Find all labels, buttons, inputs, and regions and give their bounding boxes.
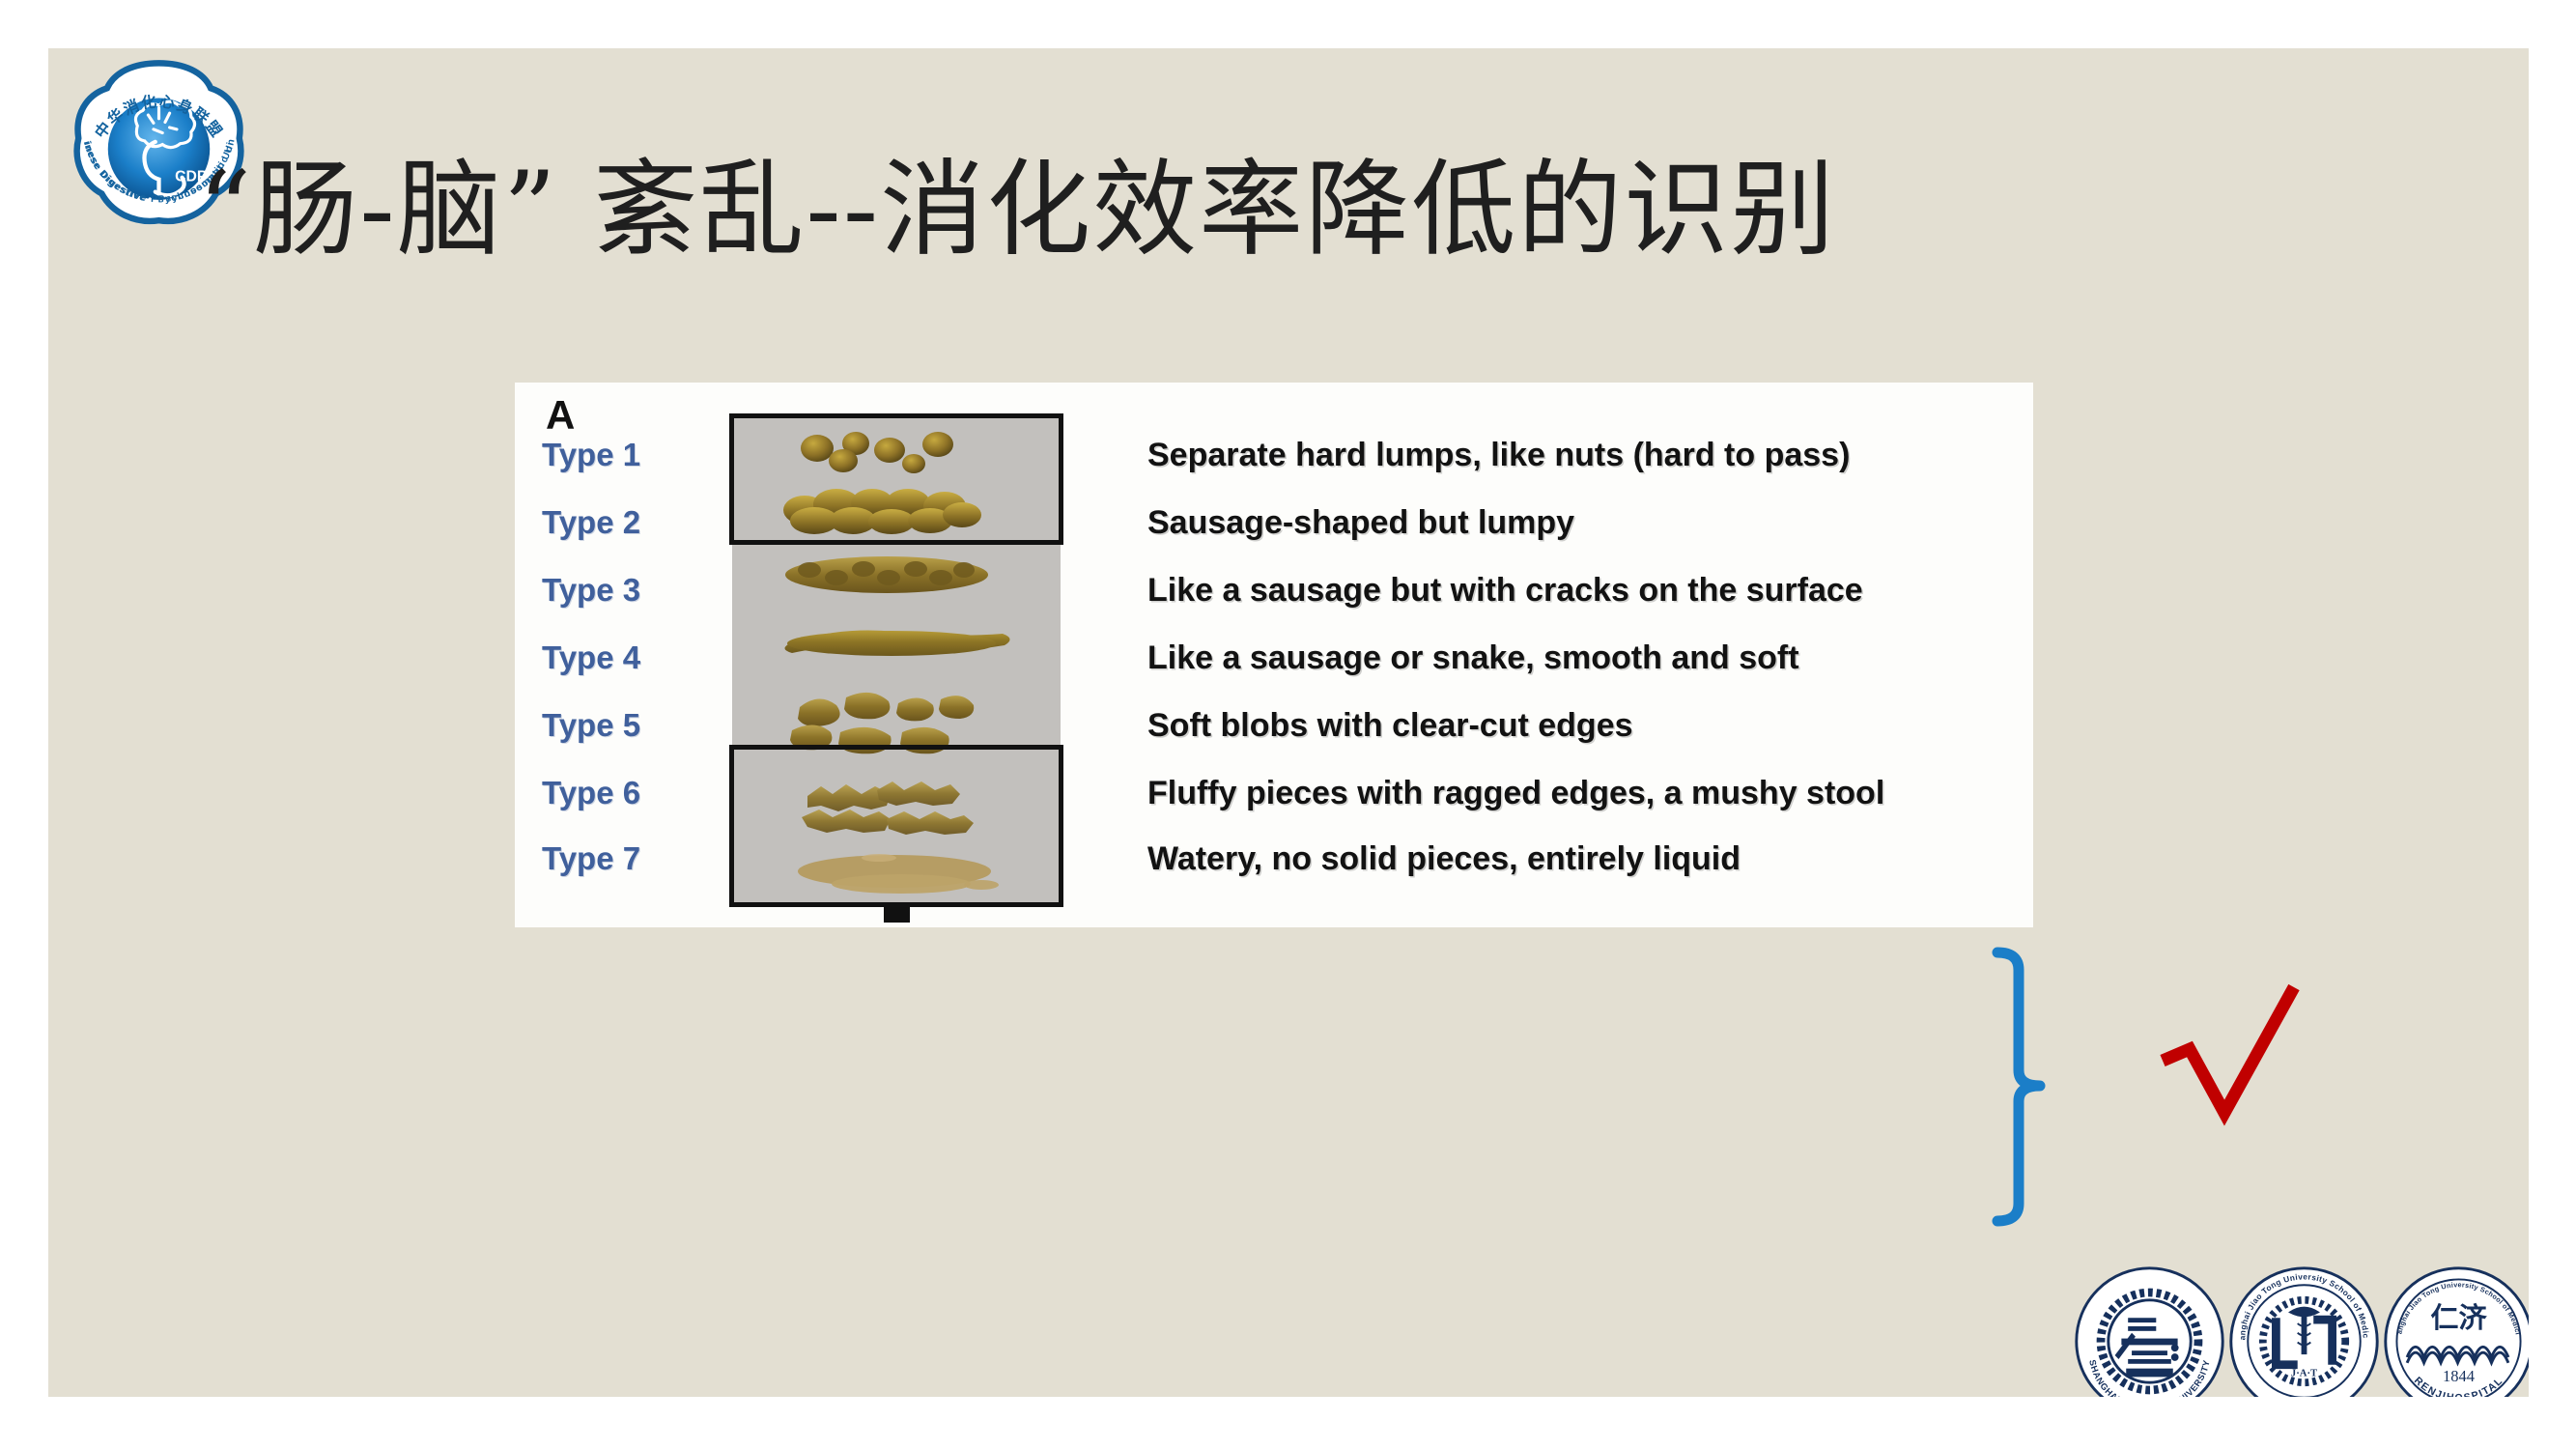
- type-label-1: Type 1: [542, 437, 725, 473]
- type-label-5: Type 5: [542, 707, 725, 744]
- type-description-2: Sausage-shaped but lumpy: [1147, 504, 1574, 542]
- blue-brace: [1990, 947, 2057, 1227]
- type-description-4: Like a sausage or snake, smooth and soft: [1147, 639, 1799, 677]
- sjtu-med-abbreviation: J·A·T: [2291, 1367, 2317, 1378]
- shanghai-jiao-tong-university-logo: SHANGHAI JIAO TONG UNIVERSITY: [2070, 1262, 2229, 1397]
- type-description-1: Separate hard lumps, like nuts (hard to …: [1147, 437, 1850, 474]
- type-label-6: Type 6: [542, 775, 725, 811]
- type-label-7: Type 7: [542, 840, 725, 877]
- sjtu-school-of-medicine-logo: J·A·T Shanghai Jiao Tong University Scho…: [2224, 1262, 2384, 1397]
- renji-hospital-logo: 仁济 1844 RENJIHOSPITAL Shanghai Jiao Tong…: [2379, 1262, 2529, 1397]
- page-title: “肠-脑” 紊乱--消化效率降低的识别: [198, 145, 2420, 275]
- type-label-4: Type 4: [542, 639, 725, 676]
- renji-chinese-text: 仁济: [2430, 1301, 2487, 1334]
- panel-letter: A: [546, 392, 575, 439]
- bristol-chart-card: A: [515, 383, 2033, 927]
- type-description-7: Watery, no solid pieces, entirely liquid: [1147, 840, 1741, 878]
- type-description-6: Fluffy pieces with ragged edges, a mushy…: [1147, 775, 1884, 812]
- slide-canvas: CDPU 中华消化心身联盟 Chinese Digestive Psychoso…: [48, 48, 2529, 1397]
- chart-stem: [884, 905, 910, 923]
- type-label-2: Type 2: [542, 504, 725, 541]
- renji-founded-year: 1844: [2443, 1367, 2475, 1385]
- type-description-5: Soft blobs with clear-cut edges: [1147, 707, 1633, 745]
- type-description-3: Like a sausage but with cracks on the su…: [1147, 572, 1863, 610]
- diarrhea-frame: [729, 745, 1063, 907]
- type-label-3: Type 3: [542, 572, 725, 609]
- constipation-frame: [729, 413, 1063, 545]
- red-checkmark: [2159, 976, 2313, 1140]
